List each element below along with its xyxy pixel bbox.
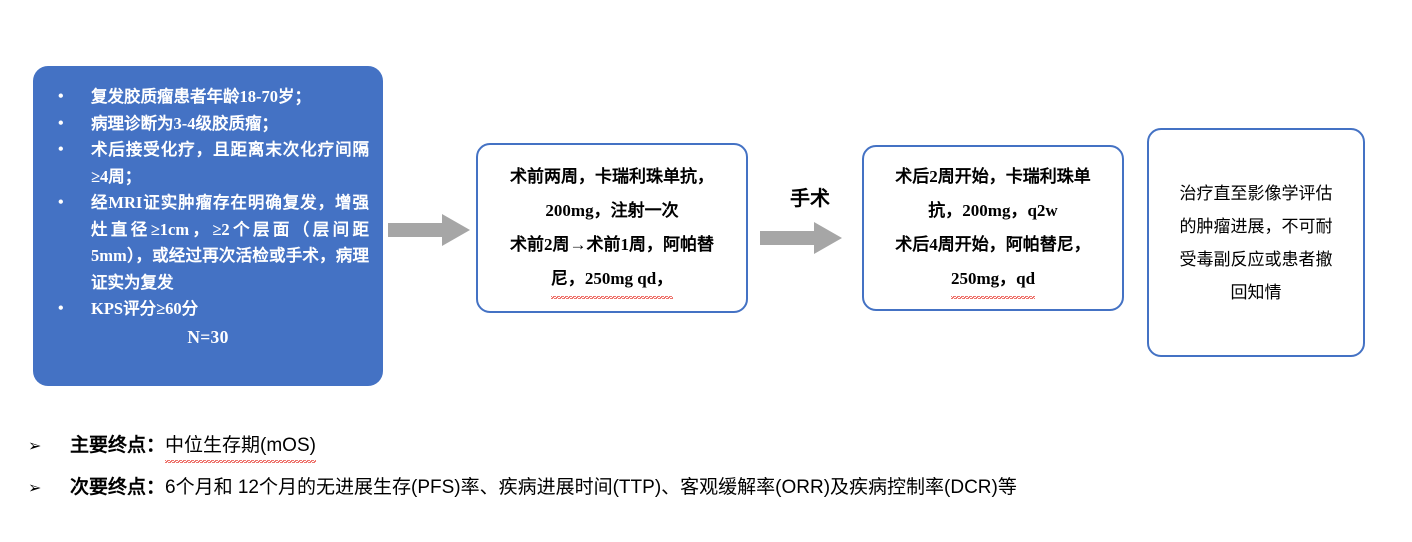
primary-endpoint-row: ➢ 主要终点： 中位生存期(mOS) bbox=[28, 432, 1378, 460]
criteria-text: 病理诊断为3-4级胶质瘤； bbox=[91, 114, 278, 133]
duration-line-2: 的肿瘤进展，不可耐 bbox=[1159, 210, 1353, 243]
pre-operative-treatment-box: 术前两周，卡瑞利珠单抗， 200mg，注射一次 术前2周→术前1周，阿帕替 尼，… bbox=[476, 143, 748, 313]
inclusion-criteria-box: • 复发胶质瘤患者年龄18-70岁； • 病理诊断为3-4级胶质瘤； • 术后接… bbox=[33, 66, 383, 386]
chevron-right-icon: ➢ bbox=[28, 432, 70, 460]
criteria-text: KPS评分≥60分 bbox=[91, 299, 198, 318]
post-operative-treatment-box: 术后2周开始，卡瑞利珠单 抗，200mg，q2w 术后4周开始，阿帕替尼， 25… bbox=[862, 145, 1124, 311]
post-operative-treatment-text: 术后2周开始，卡瑞利珠单 抗，200mg，q2w 术后4周开始，阿帕替尼， 25… bbox=[864, 160, 1122, 296]
primary-endpoint-label: 主要终点： bbox=[70, 432, 165, 460]
duration-line-3: 受毒副反应或患者撤 bbox=[1159, 243, 1353, 276]
duration-line-1: 治疗直至影像学评估 bbox=[1159, 177, 1353, 210]
surgery-step-label: 手术 bbox=[768, 182, 852, 211]
post-op-line-2: 抗，200mg，q2w bbox=[874, 194, 1112, 228]
list-item: • 术后接受化疗，且距离末次化疗间隔≥4周； bbox=[47, 137, 369, 190]
bullet-icon: • bbox=[58, 111, 64, 138]
secondary-endpoint-row: ➢ 次要终点： 6个月和 12个月的无进展生存(PFS)率、疾病进展时间(TTP… bbox=[28, 474, 1378, 502]
secondary-endpoint-value: 6个月和 12个月的无进展生存(PFS)率、疾病进展时间(TTP)、客观缓解率(… bbox=[165, 474, 1017, 502]
duration-line-4: 回知情 bbox=[1159, 276, 1353, 309]
treatment-duration-box: 治疗直至影像学评估 的肿瘤进展，不可耐 受毒副反应或患者撤 回知情 bbox=[1147, 128, 1365, 357]
post-op-line-4: 250mg，qd bbox=[874, 262, 1112, 296]
inclusion-criteria-list: • 复发胶质瘤患者年龄18-70岁； • 病理诊断为3-4级胶质瘤； • 术后接… bbox=[47, 84, 369, 323]
right-arrow-icon bbox=[760, 222, 842, 259]
endpoints-section: ➢ 主要终点： 中位生存期(mOS) ➢ 次要终点： 6个月和 12个月的无进展… bbox=[28, 432, 1378, 516]
bullet-icon: • bbox=[58, 84, 64, 111]
list-item: • 病理诊断为3-4级胶质瘤； bbox=[47, 111, 369, 138]
bullet-icon: • bbox=[58, 296, 64, 323]
list-item: • 经MRI证实肿瘤存在明确复发，增强灶直径≥1cm，≥2个层面（层间距5mm）… bbox=[47, 190, 369, 296]
chevron-right-icon: ➢ bbox=[28, 474, 70, 502]
criteria-text: 术后接受化疗，且距离末次化疗间隔≥4周； bbox=[91, 140, 369, 186]
pre-op-line-2: 200mg，注射一次 bbox=[488, 194, 736, 228]
trial-design-diagram: • 复发胶质瘤患者年龄18-70岁； • 病理诊断为3-4级胶质瘤； • 术后接… bbox=[0, 0, 1412, 542]
spellcheck-underlined-text: 尼，250mg qd， bbox=[551, 262, 673, 296]
list-item: • KPS评分≥60分 bbox=[47, 296, 369, 323]
spellcheck-underlined-text: 250mg，qd bbox=[951, 262, 1035, 296]
criteria-text: 复发胶质瘤患者年龄18-70岁； bbox=[91, 87, 311, 106]
bullet-icon: • bbox=[58, 190, 64, 217]
primary-endpoint-value: 中位生存期(mOS) bbox=[165, 432, 316, 460]
pre-operative-treatment-text: 术前两周，卡瑞利珠单抗， 200mg，注射一次 术前2周→术前1周，阿帕替 尼，… bbox=[478, 160, 746, 296]
right-arrow-icon bbox=[388, 214, 470, 251]
pre-op-line-4: 尼，250mg qd， bbox=[488, 262, 736, 296]
post-op-line-3: 术后4周开始，阿帕替尼， bbox=[874, 228, 1112, 262]
bullet-icon: • bbox=[58, 137, 64, 164]
criteria-text: 经MRI证实肿瘤存在明确复发，增强灶直径≥1cm，≥2个层面（层间距5mm），或… bbox=[91, 193, 369, 292]
pre-op-line-1: 术前两周，卡瑞利珠单抗， bbox=[488, 160, 736, 194]
post-op-line-1: 术后2周开始，卡瑞利珠单 bbox=[874, 160, 1112, 194]
treatment-duration-text: 治疗直至影像学评估 的肿瘤进展，不可耐 受毒副反应或患者撤 回知情 bbox=[1149, 177, 1363, 309]
list-item: • 复发胶质瘤患者年龄18-70岁； bbox=[47, 84, 369, 111]
sample-size-label: N=30 bbox=[47, 327, 369, 348]
secondary-endpoint-label: 次要终点： bbox=[70, 474, 165, 502]
pre-op-line-3: 术前2周→术前1周，阿帕替 bbox=[488, 228, 736, 262]
